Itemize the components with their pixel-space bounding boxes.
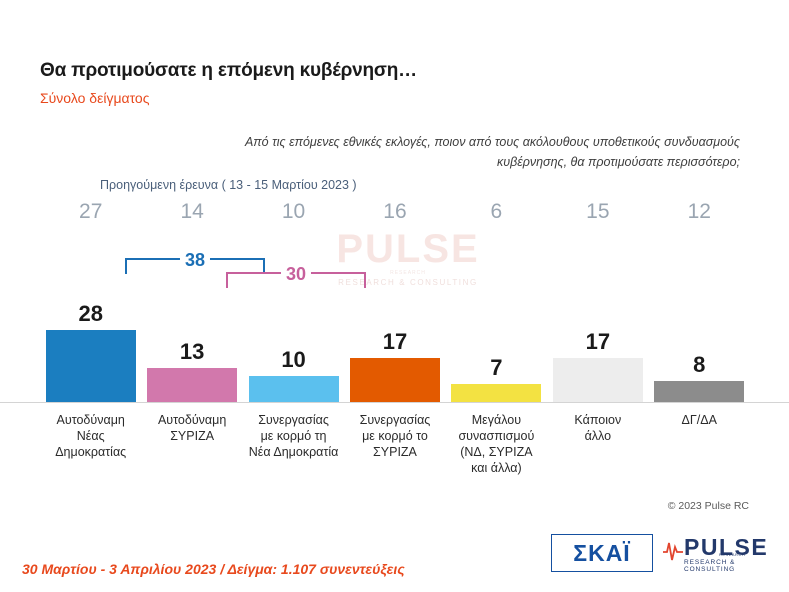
category-line: Νέας [42, 428, 139, 444]
bar-column[interactable]: 8 [649, 292, 750, 402]
question-text: Από τις επόμενες εθνικές εκλογές, ποιον … [170, 132, 740, 172]
bar-rect[interactable] [147, 368, 237, 402]
sum-bracket-pink: 30 [226, 272, 366, 288]
bar-rect[interactable] [654, 381, 744, 402]
skai-logo: ΣΚΑΪ [551, 534, 653, 572]
bar-value-label: 10 [281, 347, 305, 373]
bar-rect[interactable] [350, 358, 440, 402]
category-line: Αυτοδύναμη [42, 412, 139, 428]
copyright-text: © 2023 Pulse RC [668, 500, 749, 512]
category-line: Νέα Δημοκρατία [245, 444, 342, 460]
bar-value-label: 17 [383, 329, 407, 355]
bar-value-label: 7 [490, 355, 502, 381]
category-line: Μεγάλου [448, 412, 545, 428]
chart-page: Θα προτιμούσατε η επόμενη κυβέρνηση… Σύν… [0, 0, 789, 592]
page-title: Θα προτιμούσατε η επόμενη κυβέρνηση… [40, 60, 417, 82]
category-line: συνασπισμού [448, 428, 545, 444]
bar-value-label: 8 [693, 352, 705, 378]
category-label: Αυτοδύναμη Νέας Δημοκρατίας [40, 412, 141, 476]
pulse-wave-icon [662, 538, 684, 564]
bar-column[interactable]: 7 [446, 292, 547, 402]
question-line-1: Από τις επόμενες εθνικές εκλογές, ποιον … [170, 132, 740, 152]
category-labels: Αυτοδύναμη Νέας Δημοκρατίας Αυτοδύναμη Σ… [40, 412, 750, 476]
bar-column[interactable]: 17 [344, 292, 445, 402]
category-line: και άλλα) [448, 460, 545, 476]
pulse-logo: PULSE RESEARCH RESEARCH & CONSULTING [662, 534, 780, 570]
bar-column[interactable]: 28 [40, 292, 141, 402]
previous-value: 12 [649, 200, 750, 234]
previous-survey-values: 27 14 10 16 6 15 12 [40, 200, 750, 234]
bar-column[interactable]: 17 [547, 292, 648, 402]
previous-value: 14 [141, 200, 242, 234]
bracket-sum-value: 30 [281, 264, 311, 285]
watermark-main: PULSE [318, 228, 498, 270]
category-label: Συνεργασίας με κορμό τη Νέα Δημοκρατία [243, 412, 344, 476]
category-label: Μεγάλου συνασπισμού (ΝΔ, ΣΥΡΙΖΑ και άλλα… [446, 412, 547, 476]
bar-value-label: 13 [180, 339, 204, 365]
previous-value: 16 [344, 200, 445, 234]
bar-rect[interactable] [46, 330, 136, 402]
previous-survey-label: Προηγούμενη έρευνα ( 13 - 15 Μαρτίου 202… [100, 178, 357, 192]
pulse-logo-sub: RESEARCH & CONSULTING [684, 559, 780, 573]
pulse-logo-tiny: RESEARCH [719, 552, 745, 557]
bracket-sum-value: 38 [180, 250, 210, 271]
bar-series: 28 13 10 17 7 17 8 [40, 292, 750, 402]
skai-logo-text: ΣΚΑΪ [573, 540, 630, 567]
bar-rect[interactable] [451, 384, 541, 402]
category-line: άλλο [549, 428, 646, 444]
category-label: Κάποιον άλλο [547, 412, 648, 476]
survey-period-note: 30 Μαρτίου - 3 Απριλίου 2023 / Δείγμα: 1… [22, 561, 405, 577]
category-line: Συνεργασίας [245, 412, 342, 428]
category-line: με κορμό τη [245, 428, 342, 444]
category-line: Αυτοδύναμη [143, 412, 240, 428]
previous-value: 27 [40, 200, 141, 234]
category-label: Αυτοδύναμη ΣΥΡΙΖΑ [141, 412, 242, 476]
category-line: Συνεργασίας [346, 412, 443, 428]
category-line: ΣΥΡΙΖΑ [143, 428, 240, 444]
axis-baseline [0, 402, 789, 403]
previous-value: 15 [547, 200, 648, 234]
category-label: Συνεργασίας με κορμό το ΣΥΡΙΖΑ [344, 412, 445, 476]
bar-column[interactable]: 13 [141, 292, 242, 402]
page-subtitle: Σύνολο δείγματος [40, 90, 149, 106]
bar-column[interactable]: 10 [243, 292, 344, 402]
category-line: με κορμό το [346, 428, 443, 444]
category-line: Δημοκρατίας [42, 444, 139, 460]
bar-value-label: 28 [78, 301, 102, 327]
category-line: ΔΓ/ΔΑ [651, 412, 748, 428]
bar-value-label: 17 [586, 329, 610, 355]
category-label: ΔΓ/ΔΑ [649, 412, 750, 476]
previous-value: 10 [243, 200, 344, 234]
question-line-2: κυβέρνησης, θα προτιμούσατε περισσότερο; [170, 152, 740, 172]
category-line: (ΝΔ, ΣΥΡΙΖΑ [448, 444, 545, 460]
bar-rect[interactable] [249, 376, 339, 402]
bar-rect[interactable] [553, 358, 643, 402]
category-line: ΣΥΡΙΖΑ [346, 444, 443, 460]
previous-value: 6 [446, 200, 547, 234]
category-line: Κάποιον [549, 412, 646, 428]
